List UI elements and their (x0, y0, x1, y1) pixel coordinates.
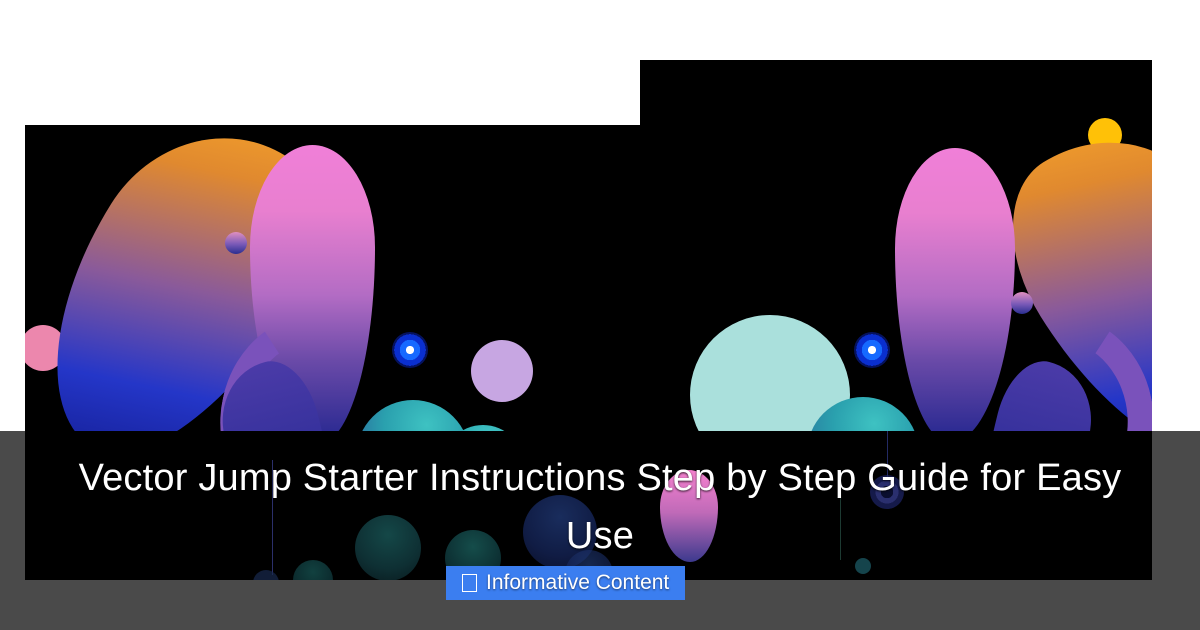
page-title: Vector Jump Starter Instructions Step by… (60, 449, 1140, 565)
ring-blue-right (854, 332, 890, 368)
preview-card: Vector Jump Starter Instructions Step by… (0, 0, 1200, 630)
caption-layer: Vector Jump Starter Instructions Step by… (0, 431, 1200, 630)
missing-glyph-box-icon (462, 574, 477, 592)
circle-lavender (471, 340, 533, 402)
sphere-tiny-left (225, 232, 247, 254)
ring-blue-left (392, 332, 428, 368)
status-badge[interactable]: Informative Content (446, 566, 685, 600)
sphere-tiny-right (1011, 292, 1033, 314)
status-badge-label: Informative Content (486, 571, 669, 594)
